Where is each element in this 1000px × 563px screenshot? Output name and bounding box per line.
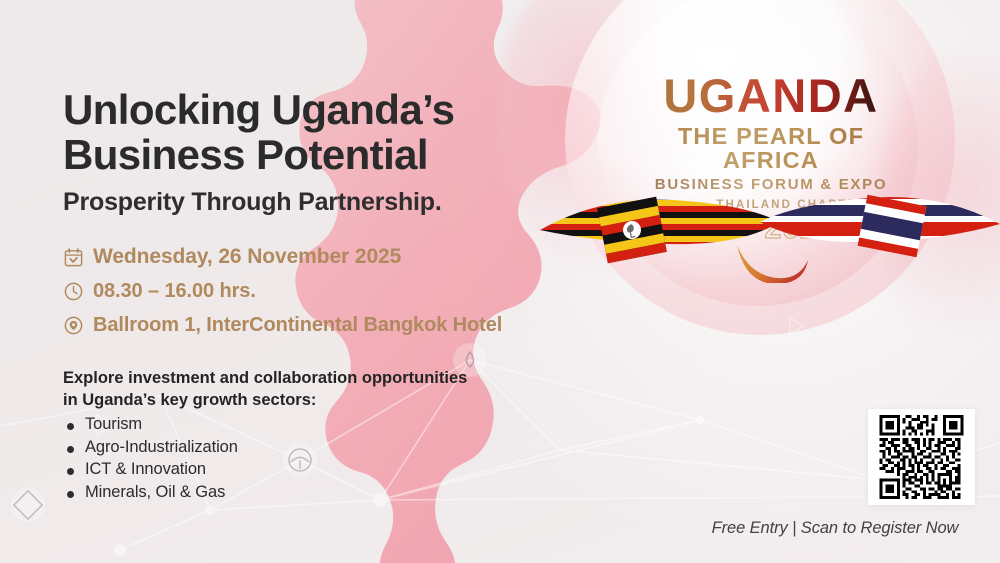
qr-caption: Free Entry | Scan to Register Now [690,519,980,538]
detail-date-text: Wednesday, 26 November 2025 [93,245,401,269]
poster-content: Unlocking Uganda’s Business Potential Pr… [63,88,623,502]
detail-row-date: Wednesday, 26 November 2025 [63,243,623,272]
logo-tagline: THE PEARL OF AFRICA [636,125,906,172]
location-pin-icon [63,315,93,336]
uganda-flag-ribbon [540,194,800,256]
clock-icon [63,281,93,302]
list-item: ICT & Innovation [63,460,623,479]
detail-row-time: 08.30 – 16.00 hrs. [63,277,623,306]
detail-location-text: Ballroom 1, InterContinental Bangkok Hot… [93,314,502,337]
flag-ribbons [540,186,1000,268]
detail-row-location: Ballroom 1, InterContinental Bangkok Hot… [63,311,623,340]
event-poster: Unlocking Uganda’s Business Potential Pr… [0,0,1000,563]
qr-code-image [874,415,969,499]
sectors-heading: Explore investment and collaboration opp… [63,368,623,412]
subheadline: Prosperity Through Partnership. [63,188,623,217]
qr-code[interactable] [868,409,975,505]
headline-line-1: Unlocking Uganda’s [63,86,454,133]
event-details: Wednesday, 26 November 2025 08.30 – 16.0… [63,243,623,340]
sector-list: Tourism Agro-Industrialization ICT & Inn… [63,415,623,502]
calendar-icon [63,247,93,268]
list-item: Agro-Industrialization [63,438,623,457]
sectors-heading-line-2: in Uganda’s key growth sectors: [63,391,316,409]
detail-time-text: 08.30 – 16.00 hrs. [93,280,256,303]
list-item: Tourism [63,415,623,434]
sectors-heading-line-1: Explore investment and collaboration opp… [63,369,467,387]
page-title: Unlocking Uganda’s Business Potential [63,88,623,178]
headline-line-2: Business Potential [63,133,623,178]
uganda-flag-panel [597,197,667,263]
sectors-block: Explore investment and collaboration opp… [63,368,623,502]
list-item: Minerals, Oil & Gas [63,483,623,502]
logo-wordmark: UGANDA [636,72,906,119]
